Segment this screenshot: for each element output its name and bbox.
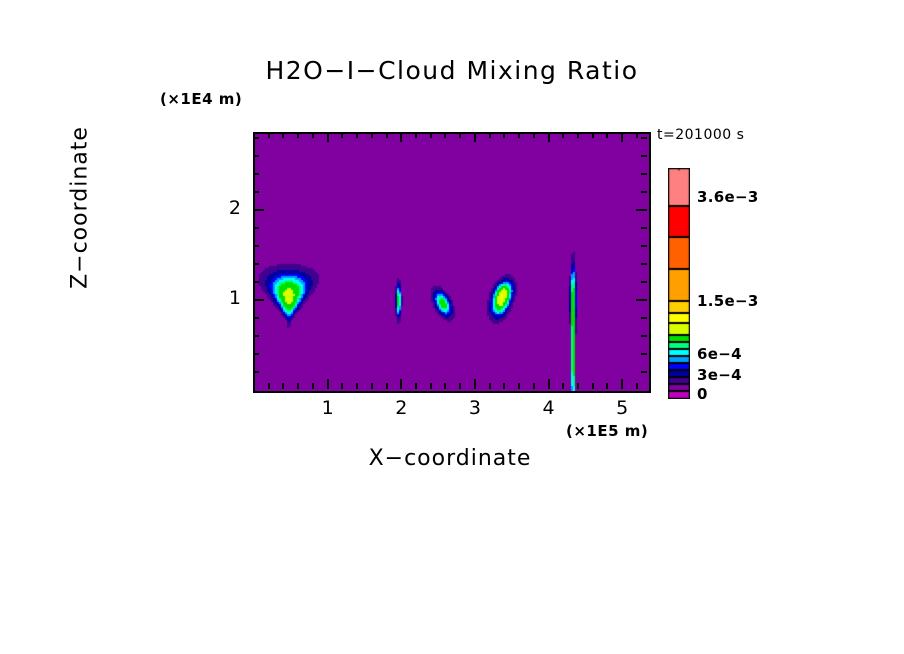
x-minor-tick — [562, 383, 564, 389]
x-minor-tick — [430, 383, 432, 389]
y-minor-tick-right — [641, 155, 647, 157]
x-tick-label: 2 — [386, 397, 416, 419]
x-minor-tick-top — [518, 132, 520, 138]
x-minor-tick — [606, 383, 608, 389]
y-minor-tick-right — [641, 263, 647, 265]
x-axis-unit-label: (×1E5 m) — [566, 422, 648, 440]
x-minor-tick — [268, 383, 270, 389]
x-minor-tick — [577, 383, 579, 389]
heatmap-canvas — [255, 134, 649, 391]
x-axis-title: X−coordinate — [253, 446, 647, 471]
x-major-tick-top — [474, 132, 476, 142]
x-minor-tick-top — [312, 132, 314, 138]
x-minor-tick-top — [577, 132, 579, 138]
x-minor-tick-top — [489, 132, 491, 138]
y-axis-unit-label: (×1E4 m) — [160, 90, 242, 108]
colorbar-tick-label: 3e−4 — [697, 366, 742, 384]
x-minor-tick — [592, 383, 594, 389]
x-minor-tick-top — [562, 132, 564, 138]
x-minor-tick — [533, 383, 535, 389]
x-major-tick — [327, 379, 329, 389]
x-minor-tick — [341, 383, 343, 389]
y-minor-tick-right — [641, 245, 647, 247]
y-major-tick — [253, 209, 264, 211]
x-minor-tick-top — [386, 132, 388, 138]
x-tick-label: 3 — [460, 397, 490, 419]
y-minor-tick-right — [641, 281, 647, 283]
y-minor-tick — [253, 281, 259, 283]
y-minor-tick-right — [641, 335, 647, 337]
colorbar-tick-label: 1.5e−3 — [697, 292, 759, 310]
x-minor-tick — [386, 383, 388, 389]
y-tick-label: 1 — [211, 287, 241, 309]
x-minor-tick-top — [636, 132, 638, 138]
x-minor-tick — [459, 383, 461, 389]
y-minor-tick — [253, 371, 259, 373]
x-minor-tick-top — [415, 132, 417, 138]
y-minor-tick — [253, 137, 259, 139]
y-minor-tick-right — [641, 227, 647, 229]
y-minor-tick — [253, 263, 259, 265]
colorbar-tick-label: 3.6e−3 — [697, 188, 759, 206]
y-minor-tick-right — [641, 137, 647, 139]
x-minor-tick-top — [371, 132, 373, 138]
x-minor-tick — [371, 383, 373, 389]
x-minor-tick-top — [606, 132, 608, 138]
y-minor-tick — [253, 335, 259, 337]
colorbar-tick-label: 6e−4 — [697, 345, 742, 363]
y-minor-tick-right — [641, 317, 647, 319]
x-minor-tick — [503, 383, 505, 389]
x-minor-tick-top — [356, 132, 358, 138]
x-minor-tick-top — [268, 132, 270, 138]
x-minor-tick — [518, 383, 520, 389]
x-minor-tick — [636, 383, 638, 389]
x-major-tick-top — [548, 132, 550, 142]
x-minor-tick — [282, 383, 284, 389]
y-major-tick-right — [636, 299, 647, 301]
x-minor-tick — [356, 383, 358, 389]
x-minor-tick — [489, 383, 491, 389]
x-minor-tick-top — [592, 132, 594, 138]
x-minor-tick — [312, 383, 314, 389]
y-minor-tick — [253, 173, 259, 175]
colorbar — [668, 168, 690, 399]
x-major-tick-top — [400, 132, 402, 142]
colorbar-canvas — [668, 168, 690, 399]
x-major-tick — [621, 379, 623, 389]
y-minor-tick-right — [641, 173, 647, 175]
x-major-tick-top — [327, 132, 329, 142]
x-major-tick-top — [621, 132, 623, 142]
time-annotation: t=201000 s — [657, 127, 744, 143]
y-minor-tick — [253, 245, 259, 247]
x-minor-tick-top — [297, 132, 299, 138]
x-minor-tick-top — [444, 132, 446, 138]
y-minor-tick — [253, 317, 259, 319]
y-minor-tick — [253, 155, 259, 157]
x-major-tick — [548, 379, 550, 389]
x-tick-label: 4 — [534, 397, 564, 419]
y-minor-tick — [253, 353, 259, 355]
y-tick-label: 2 — [211, 197, 241, 219]
y-axis-title: Z−coordinate — [68, 68, 93, 348]
x-minor-tick-top — [533, 132, 535, 138]
x-minor-tick — [297, 383, 299, 389]
y-minor-tick — [253, 227, 259, 229]
x-minor-tick-top — [503, 132, 505, 138]
x-minor-tick-top — [430, 132, 432, 138]
y-minor-tick-right — [641, 371, 647, 373]
x-major-tick — [400, 379, 402, 389]
y-major-tick — [253, 299, 264, 301]
colorbar-tick-label: 0 — [697, 385, 708, 403]
y-minor-tick-right — [641, 191, 647, 193]
chart-title: H2O−I−Cloud Mixing Ratio — [0, 56, 904, 85]
x-minor-tick-top — [341, 132, 343, 138]
x-minor-tick — [444, 383, 446, 389]
x-minor-tick — [415, 383, 417, 389]
x-tick-label: 5 — [607, 397, 637, 419]
plot-area — [253, 132, 651, 393]
x-minor-tick-top — [282, 132, 284, 138]
y-minor-tick — [253, 191, 259, 193]
y-minor-tick-right — [641, 353, 647, 355]
x-tick-label: 1 — [313, 397, 343, 419]
y-major-tick-right — [636, 209, 647, 211]
x-major-tick — [474, 379, 476, 389]
x-minor-tick-top — [459, 132, 461, 138]
